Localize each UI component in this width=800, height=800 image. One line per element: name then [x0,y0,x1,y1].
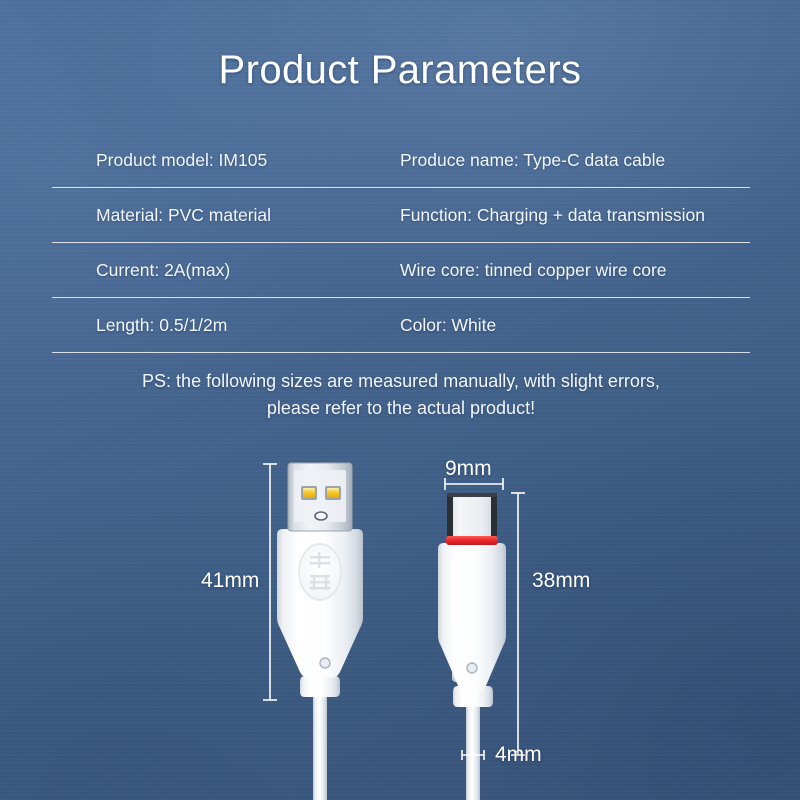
product-illustration [0,0,800,800]
usb-a-connector [277,463,363,800]
type-c-highlight [452,547,460,682]
type-c-length-dimension-line [511,493,525,755]
type-c-tip-rail-left [447,493,453,536]
usb-a-indicator-dot [320,658,330,668]
type-c-width-label: 9mm [445,457,492,481]
usb-a-strain-relief [300,676,340,697]
usb-a-length-label: 41mm [201,569,259,593]
usb-a-gold-contact-right [327,488,339,498]
usb-a-dimension-line [263,464,277,700]
type-c-cable [466,700,480,800]
type-c-indicator-dot [467,663,477,673]
type-c-red-accent-band [446,536,498,545]
type-c-tip-rail-right [491,493,497,536]
cable-diameter-label: 4mm [495,743,542,767]
usb-a-gold-contact-left [303,488,315,498]
usb-a-highlight [296,533,305,663]
type-c-length-label: 38mm [532,569,590,593]
usb-a-cable [313,690,327,800]
type-c-tip-top-edge [447,493,497,497]
usb-a-oval-hole [315,512,327,520]
type-c-tip-face [447,493,497,536]
